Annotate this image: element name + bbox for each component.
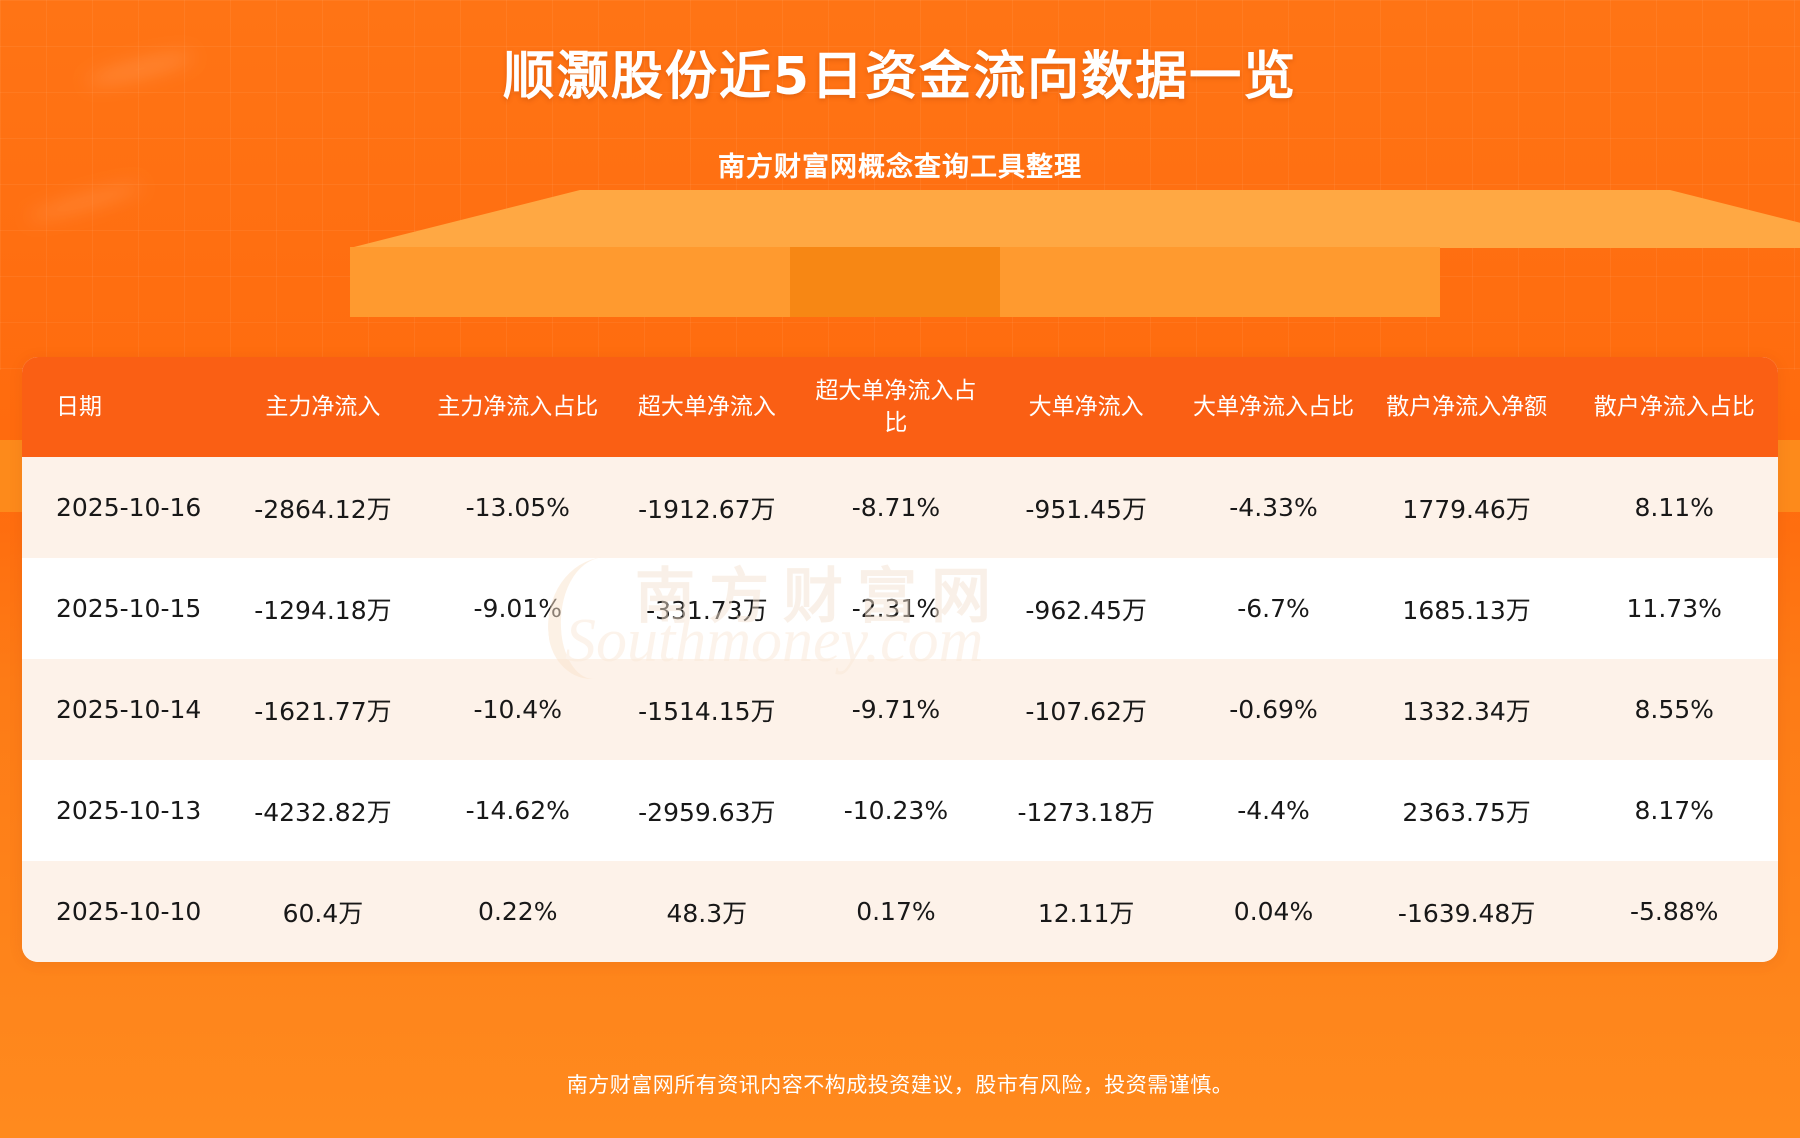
cell-large-pct: -4.33% — [1184, 457, 1363, 558]
cell-extra-large-net: -331.73万 — [610, 558, 804, 659]
cell-retail-net: 1685.13万 — [1363, 558, 1571, 659]
cell-large-net: -1273.18万 — [988, 760, 1184, 861]
column-header-main-net: 主力净流入 — [220, 357, 425, 457]
fund-flow-table-card: 日期 主力净流入 主力净流入占比 超大单净流入 超大单净流入占比 大单净流入 大… — [22, 357, 1778, 962]
cell-large-pct: 0.04% — [1184, 861, 1363, 962]
column-header-retail-pct: 散户净流入占比 — [1570, 357, 1778, 457]
column-header-date: 日期 — [22, 357, 220, 457]
cell-main-pct: -10.4% — [426, 659, 610, 760]
cell-extra-large-net: -1912.67万 — [610, 457, 804, 558]
cell-large-net: -951.45万 — [988, 457, 1184, 558]
cell-retail-net: 1332.34万 — [1363, 659, 1571, 760]
page-subtitle: 南方财富网概念查询工具整理 — [0, 145, 1800, 184]
column-header-extra-large-net: 超大单净流入 — [610, 357, 804, 457]
footer-disclaimer: 南方财富网所有资讯内容不构成投资建议，股市有风险，投资需谨慎。 — [0, 1069, 1800, 1099]
light-streak-decoration — [1290, 213, 1431, 253]
cell-large-pct: -0.69% — [1184, 659, 1363, 760]
cell-extra-large-pct: -9.71% — [804, 659, 988, 760]
cell-large-net: -962.45万 — [988, 558, 1184, 659]
cell-main-pct: -14.62% — [426, 760, 610, 861]
cell-retail-net: -1639.48万 — [1363, 861, 1571, 962]
podium-decoration — [0, 190, 1800, 375]
cell-main-pct: -9.01% — [426, 558, 610, 659]
table-row: 2025-10-14 -1621.77万 -10.4% -1514.15万 -9… — [22, 659, 1778, 760]
cell-extra-large-net: 48.3万 — [610, 861, 804, 962]
table-header: 日期 主力净流入 主力净流入占比 超大单净流入 超大单净流入占比 大单净流入 大… — [22, 357, 1778, 457]
cell-retail-net: 2363.75万 — [1363, 760, 1571, 861]
cell-extra-large-pct: 0.17% — [804, 861, 988, 962]
cell-large-pct: -4.4% — [1184, 760, 1363, 861]
cell-main-pct: -13.05% — [426, 457, 610, 558]
table-row: 2025-10-15 -1294.18万 -9.01% -331.73万 -2.… — [22, 558, 1778, 659]
cell-retail-pct: -5.88% — [1570, 861, 1778, 962]
cell-extra-large-pct: -8.71% — [804, 457, 988, 558]
table-row: 2025-10-16 -2864.12万 -13.05% -1912.67万 -… — [22, 457, 1778, 558]
cell-date: 2025-10-16 — [22, 457, 220, 558]
table-header-row: 日期 主力净流入 主力净流入占比 超大单净流入 超大单净流入占比 大单净流入 大… — [22, 357, 1778, 457]
cell-main-net: -2864.12万 — [220, 457, 425, 558]
cell-main-net: -4232.82万 — [220, 760, 425, 861]
light-streak-decoration — [25, 179, 144, 226]
table-row: 2025-10-10 60.4万 0.22% 48.3万 0.17% 12.11… — [22, 861, 1778, 962]
podium-block-center-face — [790, 247, 1000, 317]
column-header-extra-large-pct: 超大单净流入占比 — [804, 357, 988, 457]
cell-main-net: -1621.77万 — [220, 659, 425, 760]
fund-flow-table: 日期 主力净流入 主力净流入占比 超大单净流入 超大单净流入占比 大单净流入 大… — [22, 357, 1778, 962]
cell-large-net: -107.62万 — [988, 659, 1184, 760]
cell-retail-pct: 8.11% — [1570, 457, 1778, 558]
column-header-large-net: 大单净流入 — [988, 357, 1184, 457]
cell-large-net: 12.11万 — [988, 861, 1184, 962]
table-body: 2025-10-16 -2864.12万 -13.05% -1912.67万 -… — [22, 457, 1778, 962]
podium-block-center-top — [350, 190, 1800, 248]
podium-block-center-body — [350, 247, 1440, 317]
cell-main-net: 60.4万 — [220, 861, 425, 962]
cell-main-net: -1294.18万 — [220, 558, 425, 659]
page-title: 顺灏股份近5日资金流向数据一览 — [0, 44, 1800, 110]
infographic-page: 顺灏股份近5日资金流向数据一览 南方财富网概念查询工具整理 日期 主力净流入 主… — [0, 0, 1800, 1138]
column-header-large-pct: 大单净流入占比 — [1184, 357, 1363, 457]
table-row: 2025-10-13 -4232.82万 -14.62% -2959.63万 -… — [22, 760, 1778, 861]
column-header-retail-net: 散户净流入净额 — [1363, 357, 1571, 457]
cell-extra-large-pct: -2.31% — [804, 558, 988, 659]
cell-date: 2025-10-14 — [22, 659, 220, 760]
column-header-main-pct: 主力净流入占比 — [426, 357, 610, 457]
cell-date: 2025-10-15 — [22, 558, 220, 659]
cell-date: 2025-10-10 — [22, 861, 220, 962]
cell-extra-large-net: -1514.15万 — [610, 659, 804, 760]
cell-retail-pct: 8.17% — [1570, 760, 1778, 861]
cell-extra-large-net: -2959.63万 — [610, 760, 804, 861]
cell-retail-net: 1779.46万 — [1363, 457, 1571, 558]
light-streak-decoration — [1055, 223, 1146, 253]
cell-main-pct: 0.22% — [426, 861, 610, 962]
cell-date: 2025-10-13 — [22, 760, 220, 861]
cell-retail-pct: 8.55% — [1570, 659, 1778, 760]
cell-large-pct: -6.7% — [1184, 558, 1363, 659]
cell-extra-large-pct: -10.23% — [804, 760, 988, 861]
cell-retail-pct: 11.73% — [1570, 558, 1778, 659]
